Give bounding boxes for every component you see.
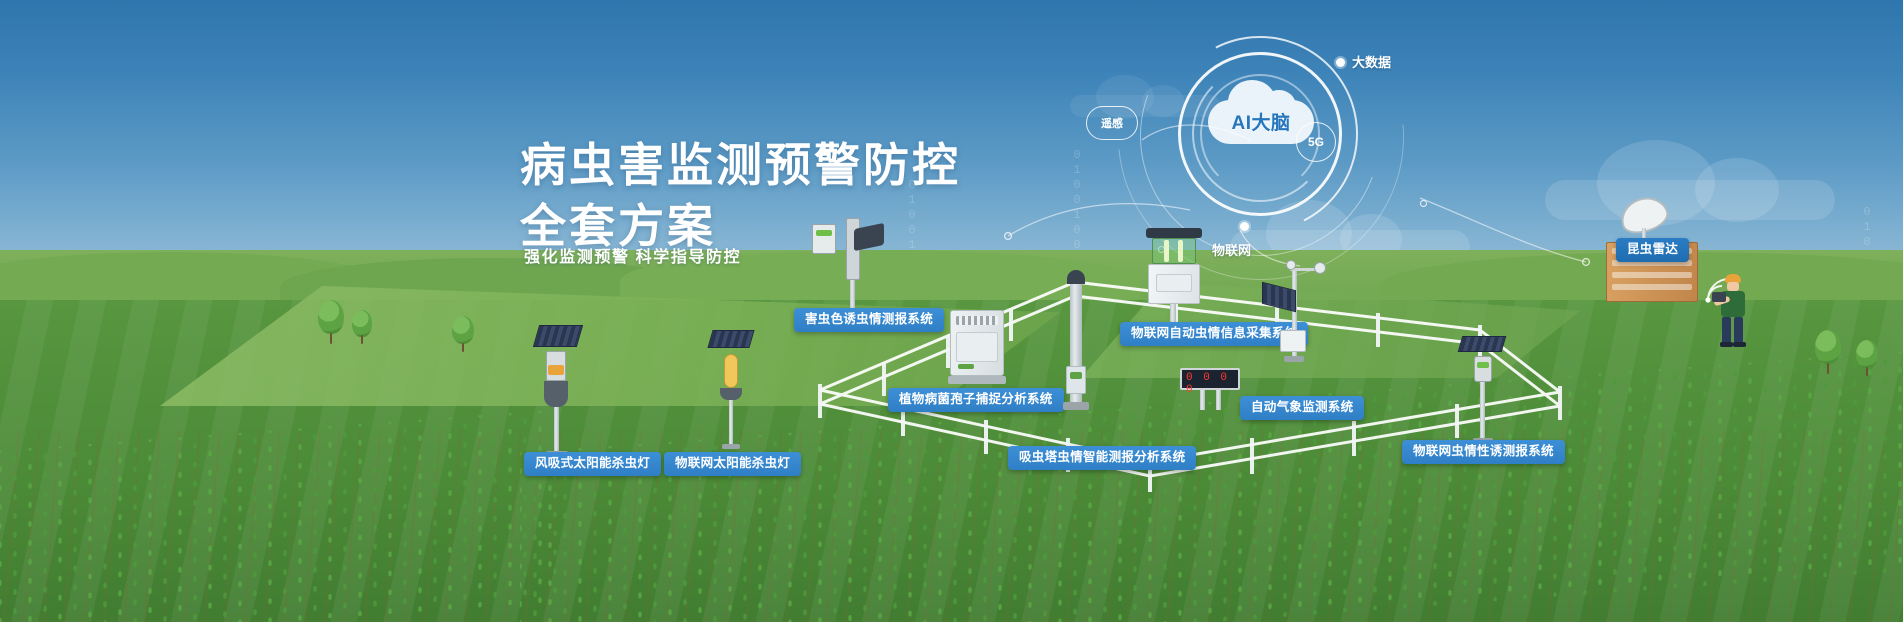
label-insect-radar[interactable]: 昆虫雷达 — [1616, 238, 1689, 262]
page-title: 病虫害监测预警防控 全套方案 — [520, 135, 961, 256]
suction-fan — [544, 381, 568, 407]
solar-panel — [707, 330, 754, 348]
support-pole — [1480, 382, 1485, 440]
label-auto-weather-monitor[interactable]: 自动气象监测系统 — [1240, 396, 1364, 420]
worker-head — [1727, 282, 1739, 291]
cabinet-stripe — [1612, 284, 1692, 290]
cabinet-stripe — [1612, 272, 1692, 278]
worker-shoe — [1720, 342, 1733, 347]
anemometer — [1314, 262, 1326, 274]
lamp-tube — [724, 354, 738, 388]
led-display-board[interactable]: 0 0 0 0 — [1180, 368, 1240, 412]
field-worker — [1712, 274, 1754, 348]
status-led — [958, 364, 974, 369]
tree — [318, 300, 344, 344]
page-subtitle: 强化监测预警 科学指导防控 — [524, 243, 741, 267]
status-led — [1477, 362, 1489, 368]
node-remote-sensing[interactable]: 遥感 — [1086, 106, 1138, 140]
tree-trunk — [330, 333, 332, 344]
tree — [1856, 340, 1878, 376]
label-iot-pheromone-report[interactable]: 物联网虫情性诱测报系统 — [1402, 440, 1565, 464]
tree-crown — [352, 310, 372, 337]
label-spore-capture-analysis[interactable]: 植物病菌孢子捕捉分析系统 — [888, 388, 1064, 412]
node-dot-iot[interactable] — [1240, 222, 1249, 231]
tree-crown — [1815, 330, 1841, 364]
device-iot-solar-insect-lamp[interactable] — [706, 330, 758, 450]
status-led — [1070, 372, 1082, 379]
wind-vane — [1286, 260, 1296, 270]
label-iot-solar-insect-lamp[interactable]: 物联网太阳能杀虫灯 — [664, 452, 801, 476]
support-pole — [729, 400, 733, 446]
device-suction-tower-report[interactable] — [1055, 270, 1097, 450]
node-dot-bigdata[interactable] — [1336, 58, 1345, 67]
device-base — [722, 444, 740, 449]
tree-trunk — [1827, 363, 1829, 374]
control-panel — [1156, 274, 1192, 292]
device-base — [948, 376, 1006, 384]
worker-shoe — [1733, 342, 1746, 347]
tree-trunk — [361, 335, 363, 344]
pest-monitoring-banner: 010010011010 01001001 01001101 0100110 — [0, 0, 1903, 622]
trap-chamber — [1152, 238, 1196, 264]
lamp-light — [548, 365, 564, 375]
analysis-unit — [1066, 366, 1086, 394]
led-readout: 0 0 0 0 — [1186, 372, 1234, 396]
tablet-device — [1712, 292, 1726, 302]
support-pole — [1200, 390, 1205, 410]
vent-grill — [956, 316, 998, 325]
title-line-1: 病虫害监测预警防控 — [520, 135, 961, 196]
ai-brain-label: AI大脑 — [1208, 108, 1314, 135]
device-wind-solar-insect-lamp[interactable] — [528, 325, 588, 455]
solar-panel — [533, 325, 583, 347]
node-label: 5G — [1308, 135, 1324, 149]
device-auto-weather-monitor[interactable] — [1262, 268, 1330, 378]
pheromone-trap — [1474, 356, 1492, 382]
label-color-lure-pest-report[interactable]: 害虫色诱虫情测报系统 — [794, 308, 944, 332]
tree — [452, 316, 474, 352]
tree-crown — [452, 316, 474, 344]
soil-rows — [0, 430, 1903, 622]
data-logger — [1280, 330, 1306, 352]
cabinet-door — [956, 332, 998, 362]
tree-trunk — [462, 343, 464, 352]
node-iot: 物联网 — [1212, 240, 1251, 259]
tree-crown — [1856, 340, 1878, 368]
ai-brain-cluster: AI大脑 遥感 大数据 5G 物联网 — [1100, 22, 1520, 252]
collector-cup — [720, 388, 742, 400]
worker-leg — [1734, 317, 1743, 343]
solar-panel — [1262, 282, 1296, 312]
tree — [352, 310, 372, 344]
label-suction-tower-report[interactable]: 吸虫塔虫情智能测报分析系统 — [1008, 446, 1196, 470]
lamp-tube — [1178, 240, 1183, 262]
device-spore-capture-analysis[interactable] — [944, 310, 1016, 392]
label-wind-solar-insect-lamp[interactable]: 风吸式太阳能杀虫灯 — [524, 452, 661, 476]
node-label: 遥感 — [1101, 115, 1123, 131]
tree-trunk — [1866, 367, 1868, 376]
node-big-data: 大数据 — [1352, 52, 1391, 71]
device-iot-pheromone-report[interactable] — [1456, 336, 1510, 448]
solar-panel — [1458, 336, 1507, 352]
tree-crown — [318, 300, 344, 334]
tree — [1815, 330, 1841, 374]
support-pole — [554, 407, 559, 453]
device-base — [1284, 356, 1304, 362]
connector-endpoint — [1420, 200, 1427, 207]
worker-leg — [1722, 317, 1731, 343]
suction-head — [1067, 270, 1085, 284]
canopy-top — [1146, 228, 1202, 238]
device-base — [1063, 402, 1089, 410]
lamp-tube — [1164, 240, 1169, 262]
support-pole — [1216, 390, 1221, 410]
